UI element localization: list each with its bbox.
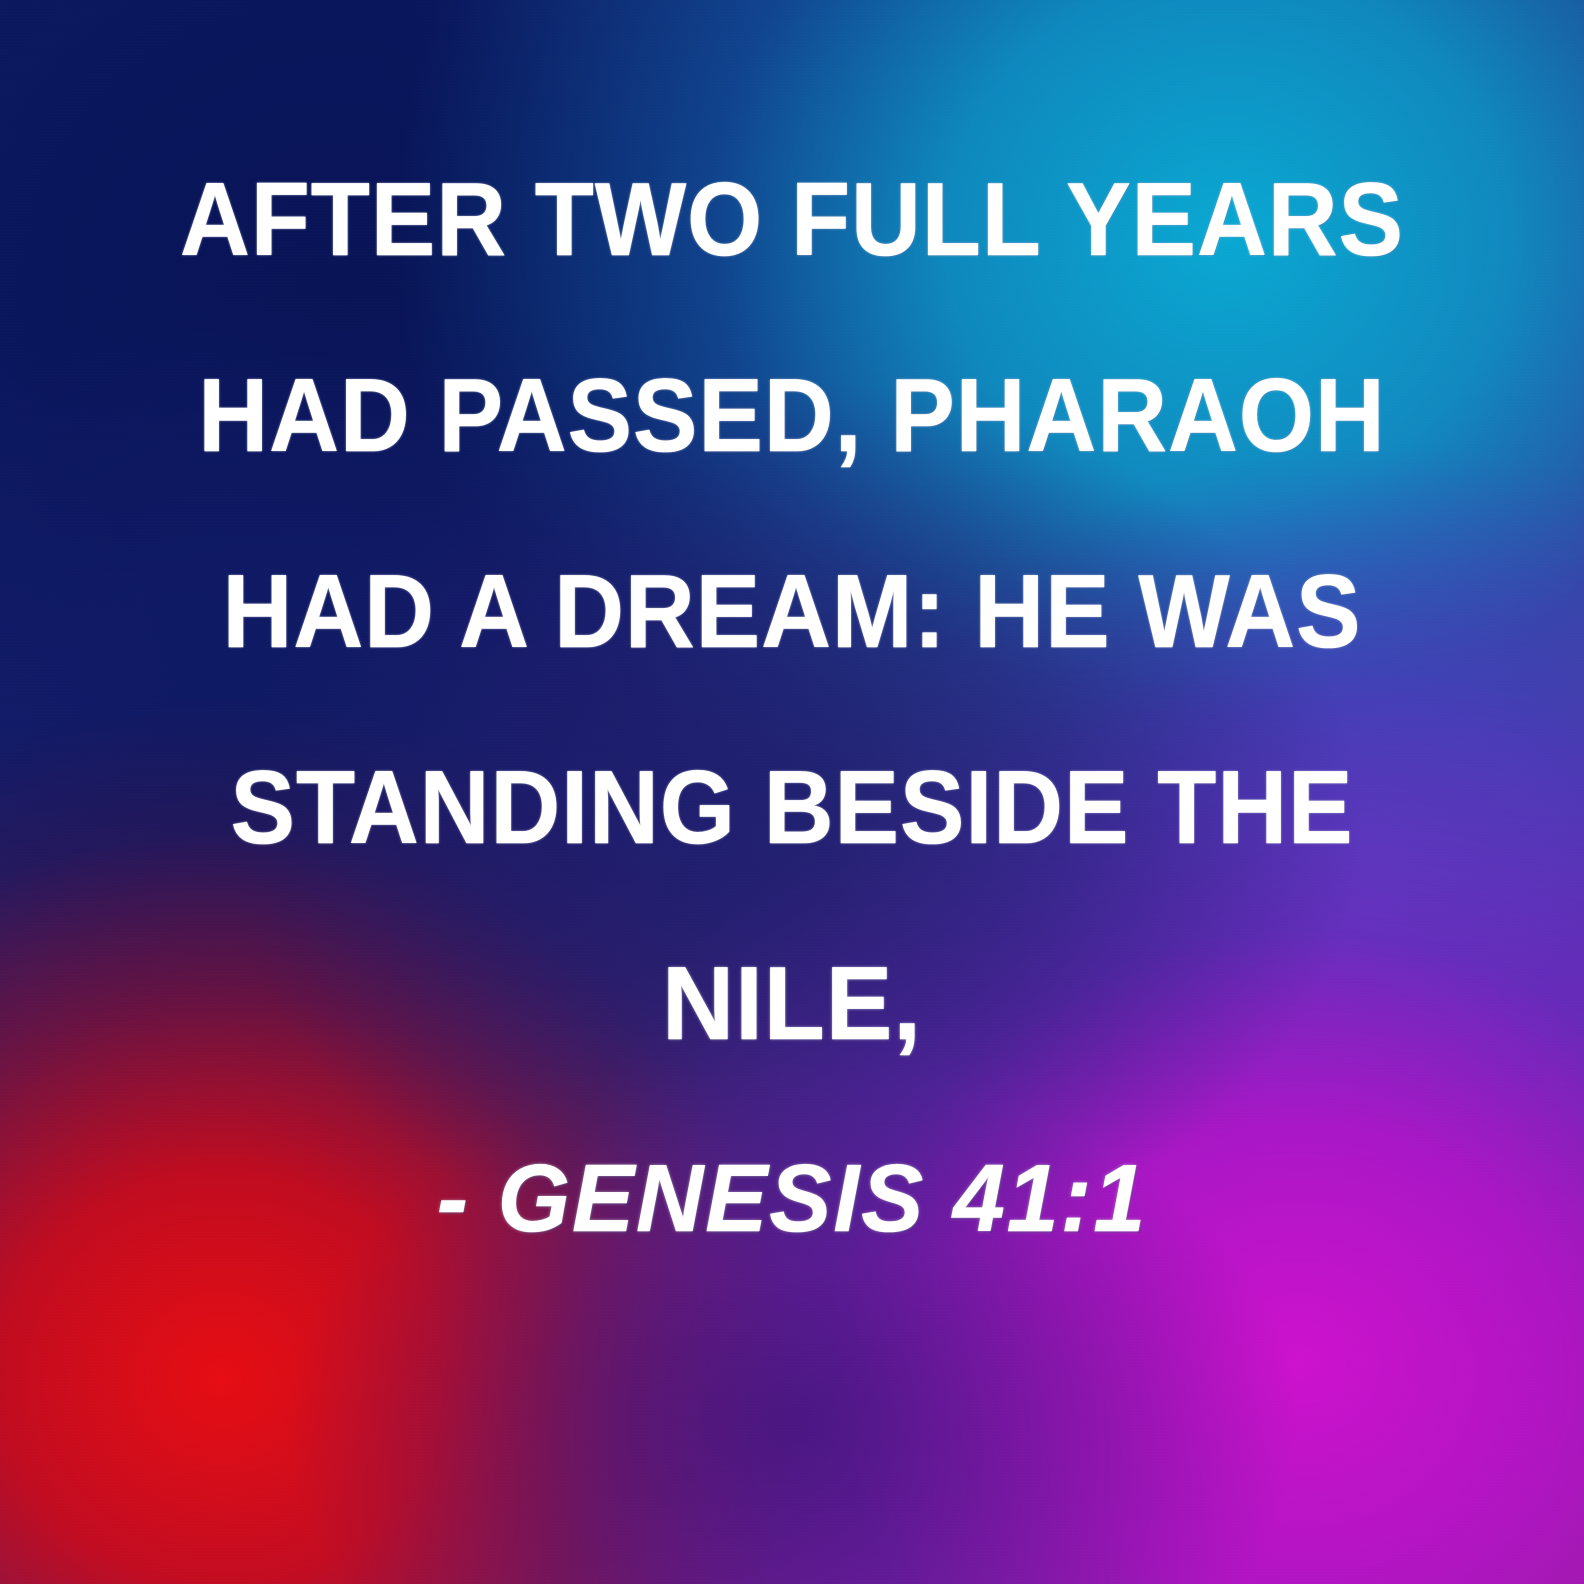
- verse-line-3: had a dream: he was: [145, 514, 1440, 710]
- verse-text-block: After two full years had passed, Pharaoh…: [0, 122, 1584, 1274]
- verse-line-1: After two full years: [145, 122, 1440, 318]
- verse-line-4: standing beside the: [145, 710, 1440, 906]
- verse-line-2: had passed, Pharaoh: [145, 318, 1440, 514]
- verse-line-5: Nile,: [124, 906, 1460, 1102]
- verse-attribution: - Genesis 41:1: [117, 1124, 1467, 1274]
- verse-image-canvas: After two full years had passed, Pharaoh…: [0, 0, 1584, 1584]
